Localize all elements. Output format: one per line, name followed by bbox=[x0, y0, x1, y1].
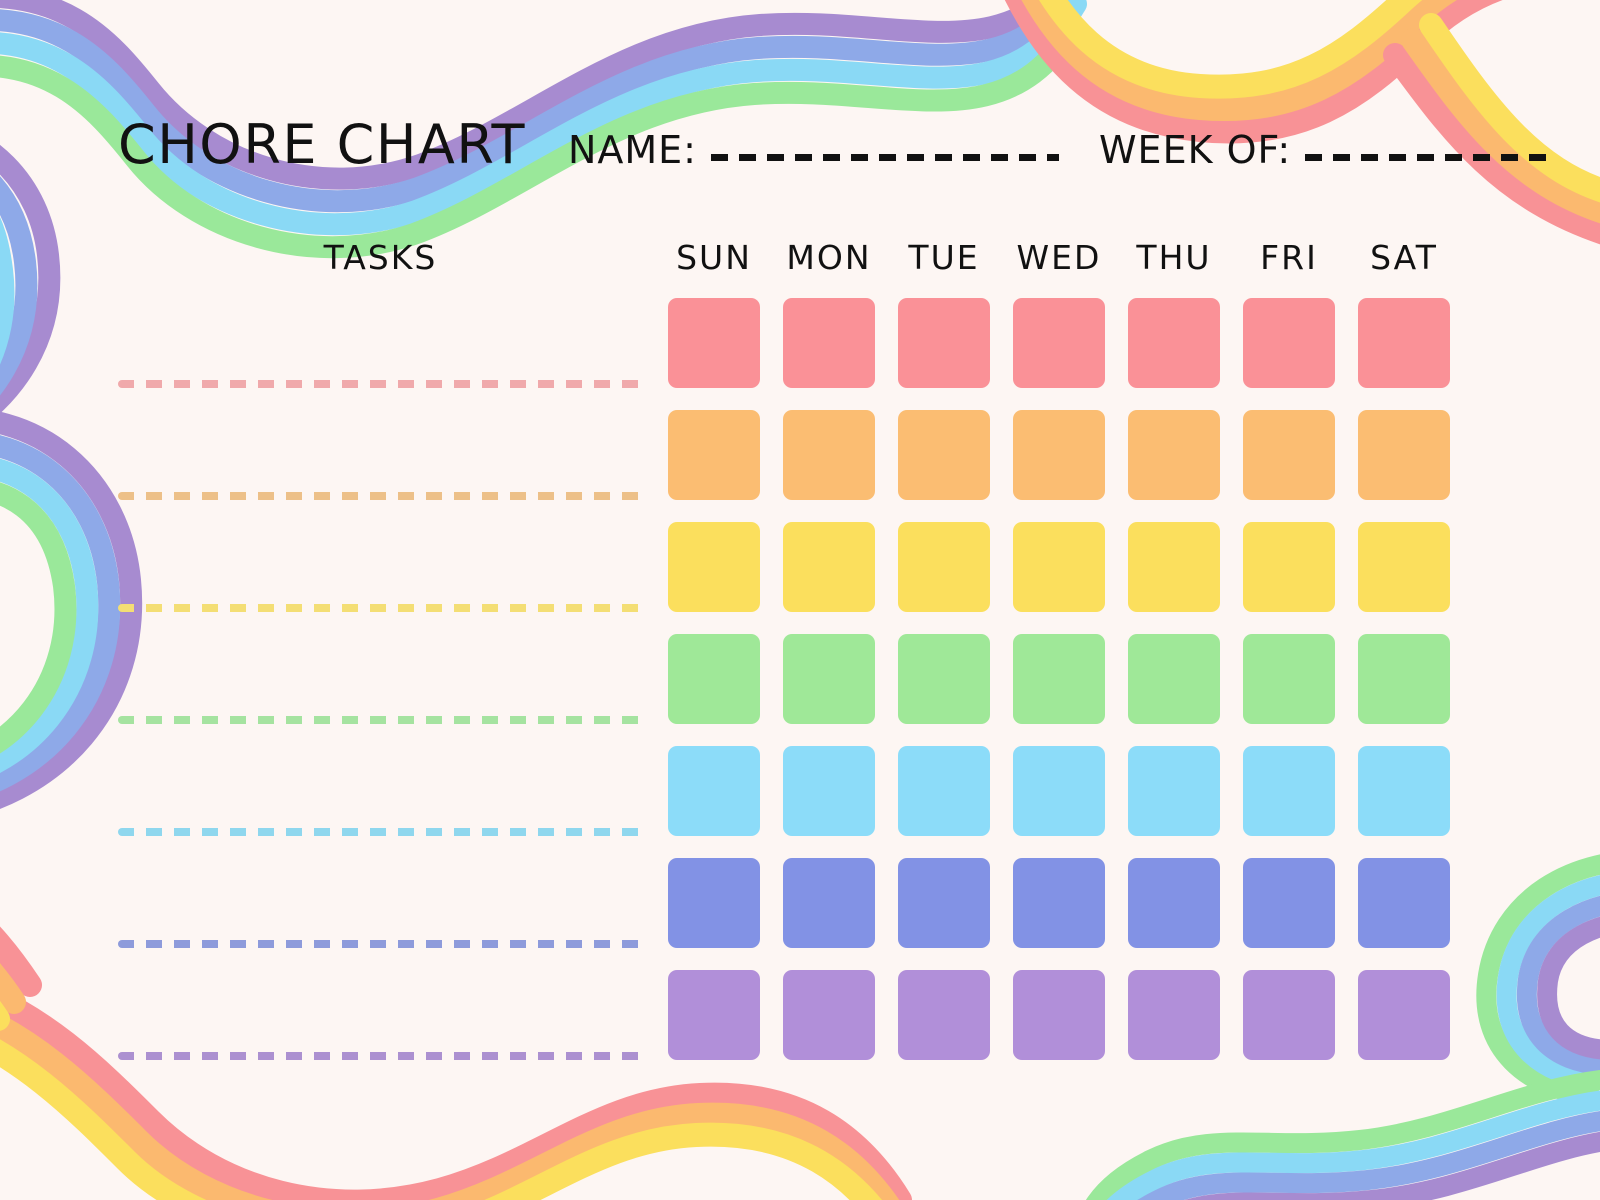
sticker-cell-fri-row6[interactable] bbox=[1243, 858, 1335, 948]
chart-header: CHORE CHART NAME: WEEK OF: bbox=[118, 118, 1458, 190]
task-row bbox=[118, 634, 643, 724]
sticker-cell-sun-row5[interactable] bbox=[668, 746, 760, 836]
sticker-cell-wed-row3[interactable] bbox=[1013, 522, 1105, 612]
sticker-cell-fri-row2[interactable] bbox=[1243, 410, 1335, 500]
week-of-input-line[interactable] bbox=[1305, 154, 1557, 161]
week-of-field-group: WEEK OF: bbox=[1099, 131, 1557, 169]
sticker-cell-wed-row2[interactable] bbox=[1013, 410, 1105, 500]
sticker-cell-sat-row2[interactable] bbox=[1358, 410, 1450, 500]
sticker-cell-sat-row5[interactable] bbox=[1358, 746, 1450, 836]
task-input-line-7[interactable] bbox=[118, 1052, 643, 1060]
name-field-group: NAME: bbox=[568, 131, 1059, 169]
name-label: NAME: bbox=[568, 131, 697, 169]
sticker-cell-mon-row1[interactable] bbox=[783, 298, 875, 388]
sticker-cell-thu-row5[interactable] bbox=[1128, 746, 1220, 836]
sticker-cell-fri-row1[interactable] bbox=[1243, 298, 1335, 388]
chore-chart-page: CHORE CHART NAME: WEEK OF: TASKS SUNMONT… bbox=[0, 0, 1600, 1200]
sticker-cell-mon-row5[interactable] bbox=[783, 746, 875, 836]
sticker-row bbox=[668, 522, 1450, 612]
sticker-cell-tue-row3[interactable] bbox=[898, 522, 990, 612]
day-header-mon: MON bbox=[783, 238, 875, 277]
sticker-cell-tue-row5[interactable] bbox=[898, 746, 990, 836]
sticker-row bbox=[668, 746, 1450, 836]
rainbow-loop-left bbox=[0, 418, 131, 815]
sticker-cell-sun-row4[interactable] bbox=[668, 634, 760, 724]
sticker-cell-fri-row7[interactable] bbox=[1243, 970, 1335, 1060]
task-input-line-6[interactable] bbox=[118, 940, 643, 948]
task-lines-column bbox=[118, 298, 643, 1068]
sticker-cell-thu-row3[interactable] bbox=[1128, 522, 1220, 612]
sticker-cell-mon-row7[interactable] bbox=[783, 970, 875, 1060]
sticker-row bbox=[668, 410, 1450, 500]
sticker-cell-thu-row6[interactable] bbox=[1128, 858, 1220, 948]
task-input-line-1[interactable] bbox=[118, 380, 643, 388]
day-header-fri: FRI bbox=[1243, 238, 1335, 277]
day-header-wed: WED bbox=[1013, 238, 1105, 277]
sticker-cell-sat-row7[interactable] bbox=[1358, 970, 1450, 1060]
sticker-cell-mon-row6[interactable] bbox=[783, 858, 875, 948]
sticker-cell-tue-row2[interactable] bbox=[898, 410, 990, 500]
sticker-cell-mon-row3[interactable] bbox=[783, 522, 875, 612]
sticker-cell-wed-row4[interactable] bbox=[1013, 634, 1105, 724]
task-row bbox=[118, 298, 643, 388]
week-of-label: WEEK OF: bbox=[1099, 131, 1291, 169]
sticker-cell-sat-row6[interactable] bbox=[1358, 858, 1450, 948]
task-row bbox=[118, 970, 643, 1060]
task-input-line-5[interactable] bbox=[118, 828, 643, 836]
sticker-cell-tue-row6[interactable] bbox=[898, 858, 990, 948]
task-input-line-2[interactable] bbox=[118, 492, 643, 500]
day-header-sat: SAT bbox=[1358, 238, 1450, 277]
sticker-cell-sat-row3[interactable] bbox=[1358, 522, 1450, 612]
sticker-cell-mon-row4[interactable] bbox=[783, 634, 875, 724]
rainbow-swirl-top-right bbox=[1000, 0, 1600, 132]
sticker-cell-tue-row7[interactable] bbox=[898, 970, 990, 1060]
sticker-cell-thu-row7[interactable] bbox=[1128, 970, 1220, 1060]
sticker-cell-tue-row1[interactable] bbox=[898, 298, 990, 388]
sticker-cell-thu-row2[interactable] bbox=[1128, 410, 1220, 500]
sticker-cell-fri-row3[interactable] bbox=[1243, 522, 1335, 612]
day-column-headers: SUNMONTUEWEDTHUFRISAT bbox=[668, 238, 1450, 277]
sticker-cell-mon-row2[interactable] bbox=[783, 410, 875, 500]
task-row bbox=[118, 522, 643, 612]
sticker-cell-sat-row1[interactable] bbox=[1358, 298, 1450, 388]
sticker-cell-fri-row5[interactable] bbox=[1243, 746, 1335, 836]
day-header-thu: THU bbox=[1128, 238, 1220, 277]
sticker-row bbox=[668, 634, 1450, 724]
sticker-cell-wed-row6[interactable] bbox=[1013, 858, 1105, 948]
tasks-column-header: TASKS bbox=[118, 238, 643, 277]
sticker-cell-sun-row6[interactable] bbox=[668, 858, 760, 948]
sticker-row bbox=[668, 858, 1450, 948]
name-input-line[interactable] bbox=[711, 154, 1059, 161]
sticker-cell-sun-row2[interactable] bbox=[668, 410, 760, 500]
day-header-tue: TUE bbox=[898, 238, 990, 277]
sticker-row bbox=[668, 970, 1450, 1060]
rainbow-swirl-bottom-right bbox=[1486, 860, 1600, 1095]
task-row bbox=[118, 410, 643, 500]
sticker-cell-fri-row4[interactable] bbox=[1243, 634, 1335, 724]
task-row bbox=[118, 858, 643, 948]
sticker-cell-thu-row1[interactable] bbox=[1128, 298, 1220, 388]
sticker-cell-sun-row3[interactable] bbox=[668, 522, 760, 612]
task-row bbox=[118, 746, 643, 836]
task-input-line-3[interactable] bbox=[118, 604, 643, 612]
sticker-cell-wed-row7[interactable] bbox=[1013, 970, 1105, 1060]
sticker-cell-thu-row4[interactable] bbox=[1128, 634, 1220, 724]
day-header-sun: SUN bbox=[668, 238, 760, 277]
rainbow-swirl-bottom-left-tail bbox=[0, 905, 30, 1019]
sticker-cell-wed-row5[interactable] bbox=[1013, 746, 1105, 836]
sticker-cell-sun-row1[interactable] bbox=[668, 298, 760, 388]
sticker-cell-sat-row4[interactable] bbox=[1358, 634, 1450, 724]
sticker-cell-wed-row1[interactable] bbox=[1013, 298, 1105, 388]
sticker-cell-sun-row7[interactable] bbox=[668, 970, 760, 1060]
rainbow-swirl-bottom-right-tail bbox=[1080, 1080, 1600, 1200]
page-title: CHORE CHART bbox=[118, 118, 526, 172]
chore-sticker-grid bbox=[668, 298, 1450, 1068]
sticker-row bbox=[668, 298, 1450, 388]
sticker-cell-tue-row4[interactable] bbox=[898, 634, 990, 724]
task-input-line-4[interactable] bbox=[118, 716, 643, 724]
